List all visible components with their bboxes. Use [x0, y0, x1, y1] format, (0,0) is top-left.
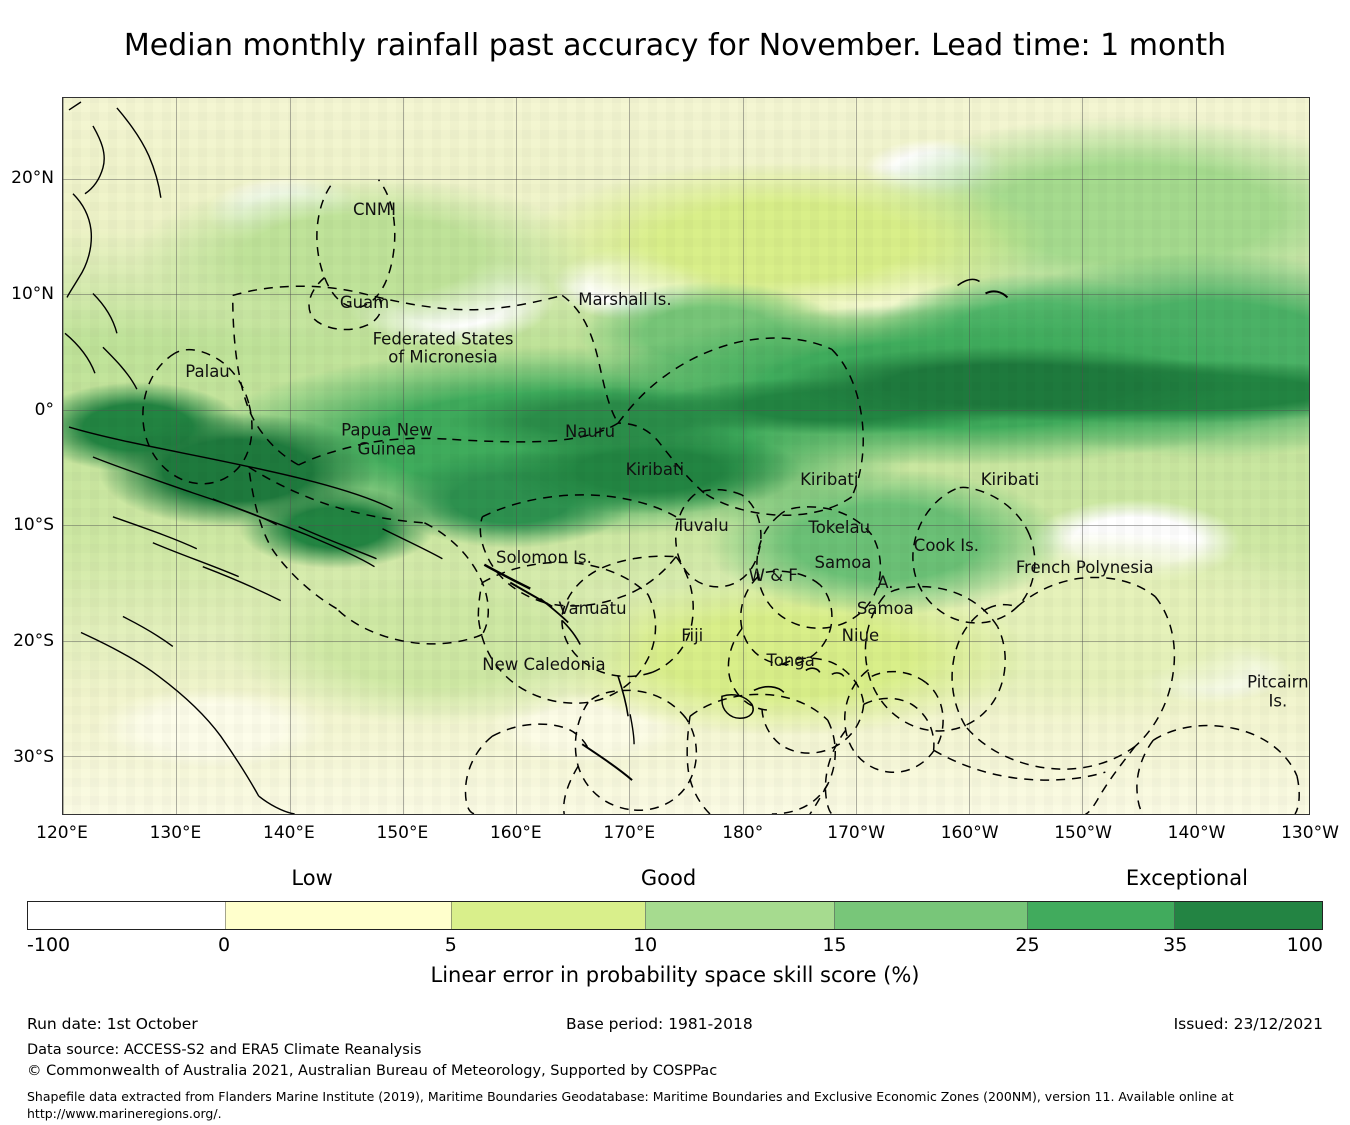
x-axis-tick-label: 160°W: [941, 823, 999, 843]
y-axis-tick-label: 20°S: [0, 631, 54, 651]
y-axis-tick-label: 30°S: [0, 747, 54, 767]
colorbar-category-label: Good: [641, 866, 696, 890]
y-axis-tick-label: 10°S: [0, 515, 54, 535]
colorbar-segment: [225, 902, 451, 929]
x-axis-tick-label: 170°E: [603, 823, 655, 843]
colorbar-tick-label: -100: [27, 934, 70, 956]
colorbar-tick-label: 25: [1015, 934, 1039, 956]
x-axis-tick-label: 150°W: [1054, 823, 1112, 843]
data-source-text: Data source: ACCESS-S2 and ERA5 Climate …: [27, 1042, 421, 1058]
copyright-text: © Commonwealth of Australia 2021, Austra…: [27, 1063, 717, 1079]
x-axis-tick-label: 130°E: [150, 823, 202, 843]
footer-primary-row: Run date: 1st October Base period: 1981-…: [0, 1015, 1350, 1037]
y-axis-tick-label: 0°: [0, 400, 54, 420]
x-axis-tick-label: 160°E: [490, 823, 542, 843]
x-axis-tick-label: 140°W: [1168, 823, 1226, 843]
colorbar-segment: [645, 902, 834, 929]
colorbar-tick-label: 10: [633, 934, 657, 956]
issued-date-text: Issued: 23/12/2021: [1174, 1015, 1323, 1033]
colorbar-category-label: Exceptional: [1126, 866, 1248, 890]
shapefile-attribution: Shapefile data extracted from Flanders M…: [27, 1089, 1234, 1123]
colorbar-tick-label: 5: [445, 934, 457, 956]
y-axis-tick-label: 10°N: [0, 284, 54, 304]
colorbar-segment: [834, 902, 1027, 929]
colorbar-tick-label: 0: [218, 934, 230, 956]
chart-root: Median monthly rainfall past accuracy fo…: [0, 0, 1350, 1125]
coastline-and-eez-layer: [63, 98, 1309, 814]
graticule-meridian: [1309, 98, 1310, 814]
colorbar: [27, 901, 1323, 930]
colorbar-tick-label: 35: [1163, 934, 1187, 956]
map-plot-area: CNMIGuamPalauFederated Statesof Micrones…: [62, 97, 1310, 815]
colorbar-axis-title: Linear error in probability space skill …: [0, 963, 1350, 987]
colorbar-segment: [28, 902, 225, 929]
x-axis-tick-label: 130°W: [1281, 823, 1339, 843]
base-period-text: Base period: 1981-2018: [566, 1015, 753, 1033]
x-axis-tick-label: 140°E: [263, 823, 315, 843]
run-date-text: Run date: 1st October: [27, 1015, 198, 1033]
colorbar-tick-label: 100: [1287, 934, 1323, 956]
colorbar-segment: [1027, 902, 1175, 929]
colorbar-segment: [1174, 902, 1322, 929]
colorbar-category-label: Low: [291, 866, 332, 890]
x-axis-tick-label: 180°: [722, 823, 763, 843]
x-axis-tick-label: 120°E: [36, 823, 88, 843]
x-axis-tick-label: 170°W: [827, 823, 885, 843]
chart-title: Median monthly rainfall past accuracy fo…: [0, 28, 1350, 63]
x-axis-tick-label: 150°E: [377, 823, 429, 843]
eez-boundaries: [143, 180, 1299, 814]
shapefile-line-1: Shapefile data extracted from Flanders M…: [27, 1089, 1234, 1106]
y-axis-tick-label: 20°N: [0, 168, 54, 188]
shapefile-line-2: http://www.marineregions.org/.: [27, 1106, 1234, 1123]
coastlines: [65, 102, 1007, 814]
colorbar-segment: [451, 902, 645, 929]
colorbar-tick-label: 15: [822, 934, 846, 956]
